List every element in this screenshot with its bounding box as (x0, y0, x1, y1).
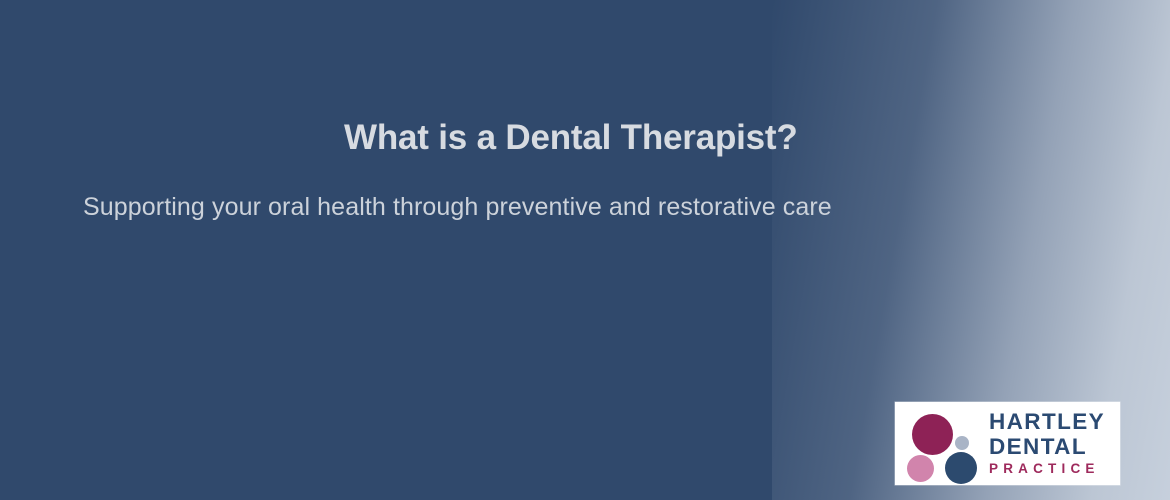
page-subtitle: Supporting your oral health through prev… (83, 193, 832, 222)
slide-canvas: What is a Dental Therapist? Supporting y… (0, 0, 1170, 500)
logo-line-dental: DENTAL (989, 436, 1105, 459)
pink-medium-dot-icon (907, 455, 934, 482)
brand-logo: HARTLEY DENTAL PRACTICE (895, 402, 1120, 485)
logo-line-hartley: HARTLEY (989, 411, 1105, 434)
logo-wordmark: HARTLEY DENTAL PRACTICE (989, 411, 1105, 476)
page-title: What is a Dental Therapist? (344, 118, 798, 158)
maroon-large-dot-icon (912, 414, 953, 455)
logo-line-practice: PRACTICE (989, 462, 1105, 476)
navy-medium-dot-icon (945, 452, 977, 484)
grey-small-dot-icon (955, 436, 969, 450)
logo-dots-group (903, 408, 985, 480)
